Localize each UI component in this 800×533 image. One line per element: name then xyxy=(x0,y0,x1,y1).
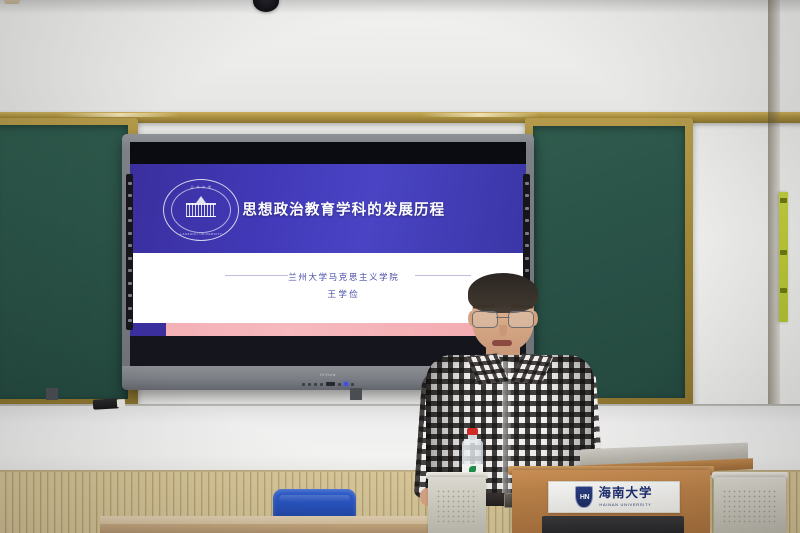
slide-presenter-name: 王学俭 xyxy=(327,288,360,300)
panel-side-key[interactable] xyxy=(525,182,529,185)
panel-side-key[interactable] xyxy=(128,269,132,272)
bottle-cap xyxy=(467,428,478,435)
banner-mark-icon xyxy=(780,288,787,293)
panel-side-key[interactable] xyxy=(128,244,132,247)
wall-upper xyxy=(0,0,800,120)
slide-title: 思想政治教育学科的发展历程 xyxy=(242,198,445,219)
eyeglass-lens-left xyxy=(472,311,498,328)
seal-bottom-text: LANZHOU UNIVERSITY xyxy=(180,232,222,236)
panel-side-key[interactable] xyxy=(128,182,132,185)
nameplate-chinese: 海南大学 xyxy=(598,487,652,500)
panel-volume-down-button[interactable] xyxy=(314,383,317,386)
speaker-grille-left xyxy=(436,489,478,523)
panel-side-key[interactable] xyxy=(525,194,529,197)
panel-side-key[interactable] xyxy=(525,269,529,272)
rail-highlight xyxy=(60,113,180,117)
panel-side-key[interactable] xyxy=(128,307,132,310)
panel-side-key[interactable] xyxy=(128,207,132,210)
panel-control-strip[interactable] xyxy=(302,382,354,386)
subtitle-rule-left xyxy=(225,275,288,276)
podium-nameplate: HN 海南大学 HAINAN UNIVERSITY xyxy=(548,481,680,513)
panel-brand-label: HiView xyxy=(320,372,336,377)
lanzhou-university-seal-icon: 兰 州 大 学 LANZHOU UNIVERSITY xyxy=(163,179,239,241)
slide-organization: 兰州大学马克思主义学院 xyxy=(288,271,399,283)
student-desk-face xyxy=(100,524,430,533)
hainan-university-shield-icon: HN xyxy=(575,486,593,508)
panel-power-button[interactable] xyxy=(351,383,354,386)
panel-side-key[interactable] xyxy=(525,244,529,247)
panel-side-key[interactable] xyxy=(128,194,132,197)
presenter-shirt-placket xyxy=(502,361,511,503)
presenter-nose xyxy=(499,325,507,336)
panel-side-key[interactable] xyxy=(525,232,529,235)
panel-mount-bracket xyxy=(46,388,58,400)
rail-highlight xyxy=(420,113,540,117)
panel-side-key[interactable] xyxy=(525,219,529,222)
speaker-handle-icon xyxy=(4,0,20,4)
podium-speaker-left xyxy=(428,477,486,533)
seal-top-text: 兰 州 大 学 xyxy=(191,185,213,189)
panel-menu-button[interactable] xyxy=(302,383,305,386)
nameplate-english: HAINAN UNIVERSITY xyxy=(599,502,651,507)
speaker-grille-right xyxy=(722,489,778,523)
panel-side-key[interactable] xyxy=(128,319,132,322)
panel-side-key[interactable] xyxy=(128,232,132,235)
banner-mark-icon xyxy=(780,250,787,255)
eyeglass-lens-right xyxy=(508,311,534,328)
panel-ir-receiver-icon xyxy=(326,382,335,386)
panel-side-key[interactable] xyxy=(128,294,132,297)
chalkboard-left-surface xyxy=(0,125,128,399)
track-spotlight-icon xyxy=(93,398,119,409)
panel-left-button-strip[interactable] xyxy=(126,174,133,330)
classroom-photo-scene: 兰 州 大 学 LANZHOU UNIVERSITY 思想政治教育学科的发展历程… xyxy=(0,0,800,533)
nameplate-text-group: 海南大学 HAINAN UNIVERSITY xyxy=(598,487,652,507)
slide-letterbox-top xyxy=(130,142,526,164)
seal-building-icon xyxy=(186,203,216,217)
podium-equipment-door[interactable] xyxy=(542,516,684,533)
panel-home-button[interactable] xyxy=(338,383,341,386)
chalkboard-left xyxy=(0,118,138,408)
panel-power-led-icon xyxy=(344,382,348,386)
slide-accent-square xyxy=(130,323,166,336)
panel-side-key[interactable] xyxy=(525,207,529,210)
eyeglasses-icon xyxy=(472,311,534,326)
podium-speaker-right xyxy=(714,477,786,533)
panel-side-key[interactable] xyxy=(128,257,132,260)
panel-side-key[interactable] xyxy=(128,219,132,222)
ceiling-shadow xyxy=(0,0,800,14)
banner-mark-icon xyxy=(780,198,787,203)
panel-side-key[interactable] xyxy=(128,282,132,285)
panel-mount-bracket xyxy=(350,388,362,400)
panel-volume-up-button[interactable] xyxy=(320,383,323,386)
bottle-neck xyxy=(468,434,477,443)
shield-initials: HN xyxy=(580,494,589,501)
panel-source-button[interactable] xyxy=(308,383,311,386)
presenter-mouth xyxy=(492,340,512,346)
wall-banner xyxy=(779,192,788,322)
panel-side-key[interactable] xyxy=(525,257,529,260)
blue-chair xyxy=(273,489,356,518)
